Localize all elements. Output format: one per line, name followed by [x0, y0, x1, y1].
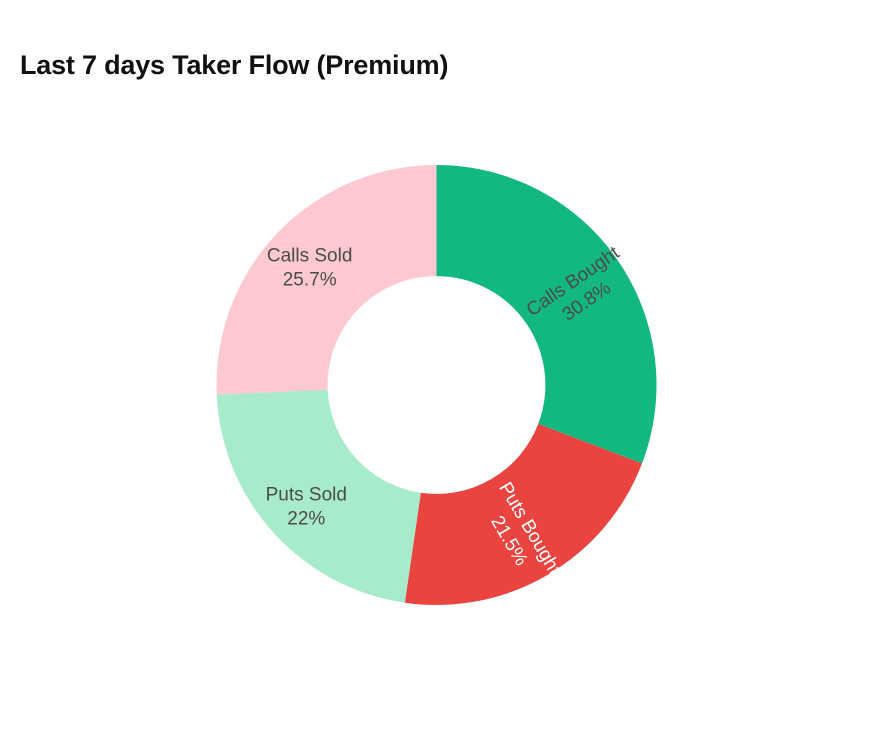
slice-name-label: Puts Sold [266, 485, 347, 506]
donut-chart: glassnode Calls Bought30.8%Puts Bought21… [0, 0, 875, 736]
chart-container: Last 7 days Taker Flow (Premium) glassno… [0, 0, 875, 736]
slice-value-label: 25.7% [283, 270, 337, 291]
slice-value-label: 22% [287, 509, 325, 530]
donut-center-hole [328, 276, 546, 494]
donut-slice-group [217, 165, 657, 605]
slice-name-label: Calls Sold [267, 246, 353, 267]
